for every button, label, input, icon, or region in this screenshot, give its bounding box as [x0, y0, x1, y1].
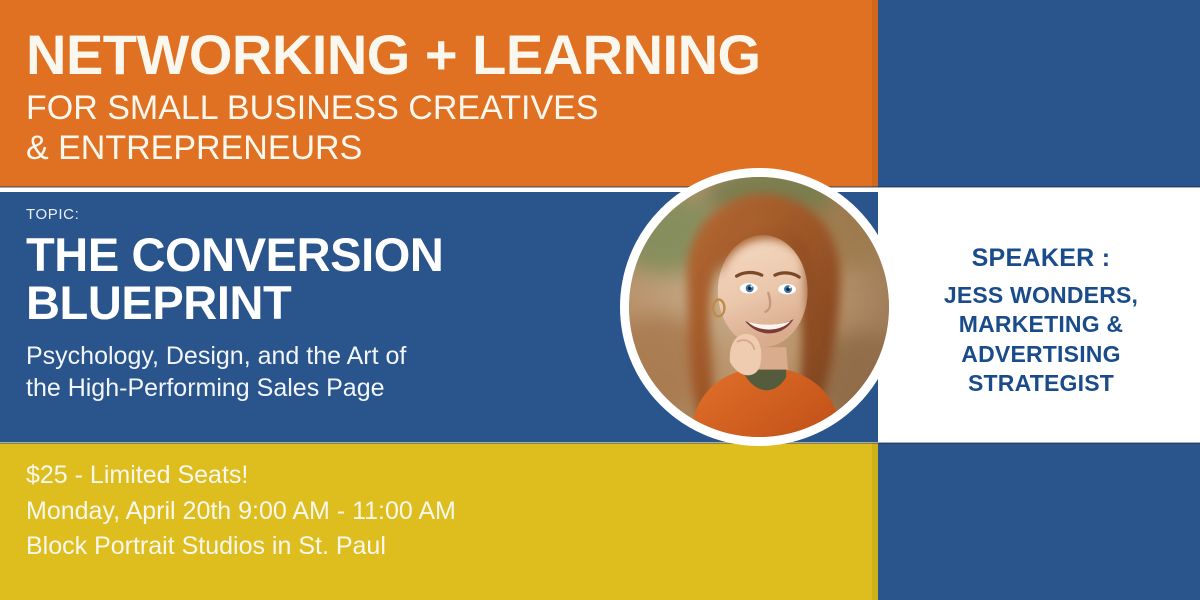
speaker-portrait-photo — [629, 177, 889, 437]
speaker-label: SPEAKER : — [896, 243, 1186, 273]
topic-title-line-2: BLUEPRINT — [26, 279, 626, 327]
divider-top — [0, 186, 1200, 188]
speaker-name-line-3: ADVERTISING — [896, 340, 1186, 369]
event-datetime: Monday, April 20th 9:00 AM - 11:00 AM — [26, 494, 726, 530]
event-flyer: NETWORKING + LEARNING FOR SMALL BUSINESS… — [0, 0, 1200, 600]
event-audience-line-1: FOR SMALL BUSINESS CREATIVES — [26, 89, 846, 129]
topic-description-line-2: the High-Performing Sales Page — [26, 373, 626, 405]
divider-bottom — [0, 442, 1200, 444]
speaker-name-line-2: MARKETING & — [896, 310, 1186, 339]
event-details-section: $25 - Limited Seats! Monday, April 20th … — [26, 458, 726, 565]
header-section: NETWORKING + LEARNING FOR SMALL BUSINESS… — [26, 26, 846, 169]
topic-section: TOPIC: THE CONVERSION BLUEPRINT Psycholo… — [26, 206, 626, 404]
event-price: $25 - Limited Seats! — [26, 458, 726, 494]
topic-description: Psychology, Design, and the Art of the H… — [26, 341, 626, 405]
speaker-portrait — [620, 168, 898, 446]
speaker-name: JESS WONDERS, MARKETING & ADVERTISING ST… — [896, 281, 1186, 399]
event-location: Block Portrait Studios in St. Paul — [26, 529, 726, 565]
event-audience: FOR SMALL BUSINESS CREATIVES & ENTREPREN… — [26, 89, 846, 169]
speaker-name-line-1: JESS WONDERS, — [896, 281, 1186, 310]
topic-label: TOPIC: — [26, 206, 626, 223]
topic-title: THE CONVERSION BLUEPRINT — [26, 231, 626, 328]
speaker-name-line-4: STRATEGIST — [896, 369, 1186, 398]
topic-title-line-1: THE CONVERSION — [26, 231, 626, 279]
event-audience-line-2: & ENTREPRENEURS — [26, 129, 846, 169]
event-title: NETWORKING + LEARNING — [26, 26, 846, 83]
topic-description-line-1: Psychology, Design, and the Art of — [26, 341, 626, 373]
speaker-section: SPEAKER : JESS WONDERS, MARKETING & ADVE… — [896, 243, 1186, 399]
